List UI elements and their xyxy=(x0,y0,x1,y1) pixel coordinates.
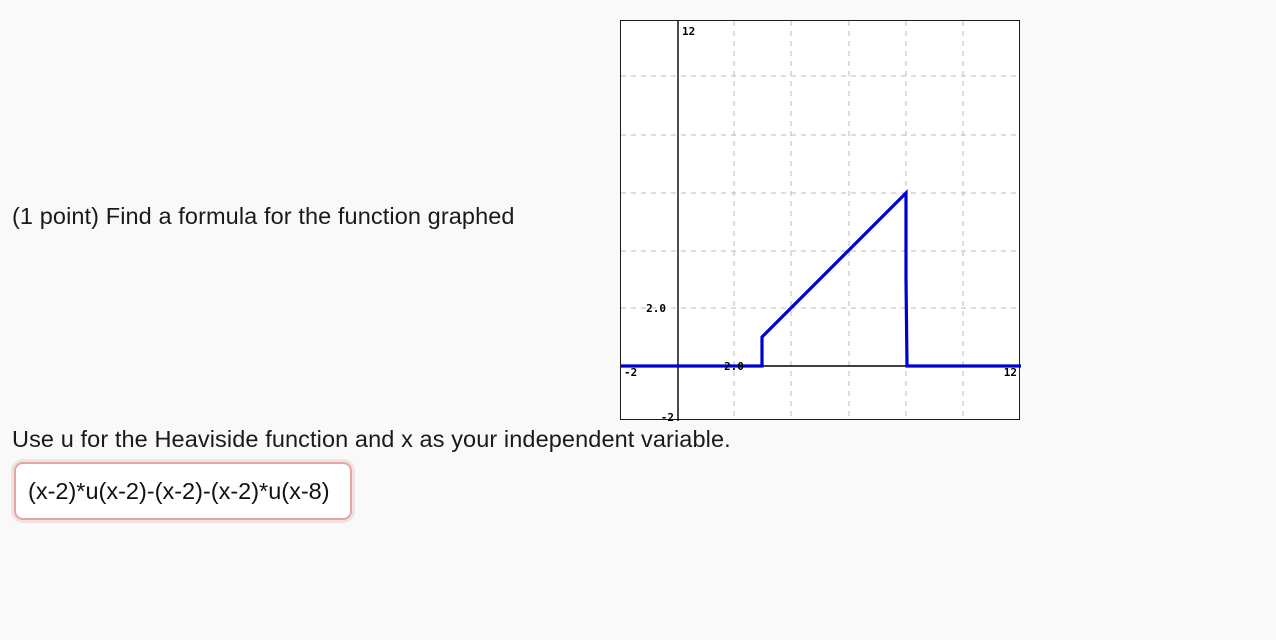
function-graph-svg: 12 2.0 -2 -2 2.0 12 xyxy=(621,21,1021,421)
answer-input[interactable] xyxy=(14,462,352,520)
heaviside-instruction: Use u for the Heaviside function and x a… xyxy=(12,426,731,453)
question-prompt: (1 point) Find a formula for the functio… xyxy=(12,203,515,230)
y-axis-min-label: -2 xyxy=(661,411,674,421)
y-axis-max-label: 12 xyxy=(682,25,695,38)
function-graph-panel: 12 2.0 -2 -2 2.0 12 xyxy=(620,20,1020,420)
x-axis-max-label: 12 xyxy=(1004,366,1017,379)
y-axis-tick-2-label: 2.0 xyxy=(646,302,666,315)
grid-lines-horizontal xyxy=(621,76,1021,308)
x-axis-tick-2-label: 2.0 xyxy=(724,360,744,373)
function-curve xyxy=(621,193,1021,366)
grid-lines-vertical xyxy=(734,21,963,421)
x-axis-min-label: -2 xyxy=(624,366,637,379)
